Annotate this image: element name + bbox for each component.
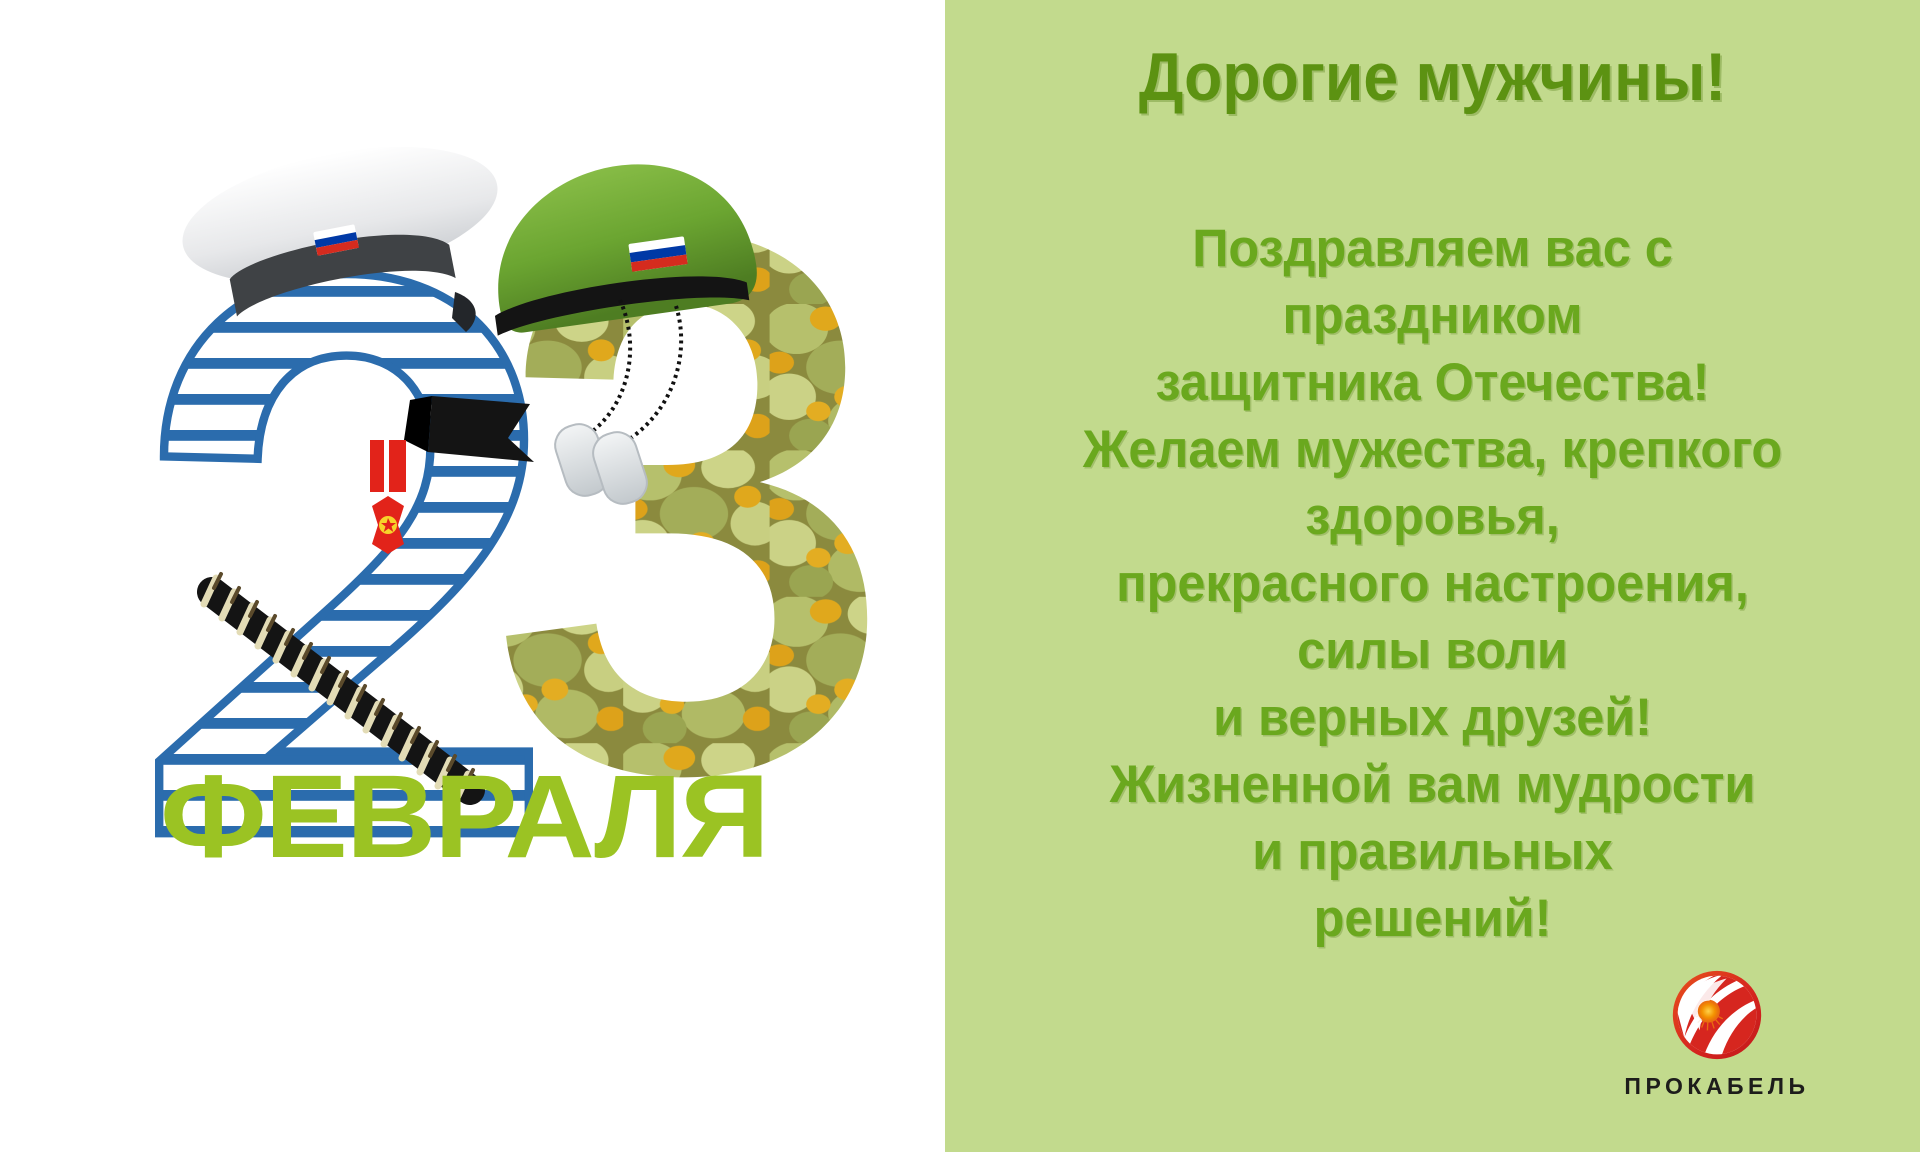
greeting-line: решений! xyxy=(969,885,1895,952)
greeting-card: ФЕВРАЛЯ Дорогие мужчины! Поздравляем вас… xyxy=(0,0,1920,1152)
greeting-line: силы воли xyxy=(969,617,1895,684)
february-word: ФЕВРАЛЯ xyxy=(160,758,817,876)
greeting-line: и правильных xyxy=(969,818,1895,885)
greeting-line: Поздравляем вас с xyxy=(969,215,1895,282)
greeting-line: Жизненной вам мудрости xyxy=(969,751,1895,818)
medal-icon xyxy=(370,440,406,554)
greeting-line: и верных друзей! xyxy=(969,684,1895,751)
greeting-line: Желаем мужества, крепкого xyxy=(969,416,1895,483)
greeting-line: защитника Отечества! xyxy=(969,349,1895,416)
greeting-line: праздником xyxy=(969,282,1895,349)
illustration-panel: ФЕВРАЛЯ xyxy=(0,0,945,1152)
23-february-illustration xyxy=(0,0,945,1152)
greeting-heading: Дорогие мужчины! xyxy=(984,42,1881,113)
prokabel-logo-text: ПРОКАБЕЛЬ xyxy=(1622,1073,1812,1100)
greeting-body: Поздравляем вас с праздником защитника О… xyxy=(969,215,1895,952)
greeting-line: здоровья, xyxy=(969,483,1895,550)
greeting-line: прекрасного настроения, xyxy=(969,550,1895,617)
prokabel-logo-icon xyxy=(1669,967,1765,1063)
numeral-two xyxy=(159,274,529,833)
greeting-panel: Дорогие мужчины! Поздравляем вас с празд… xyxy=(945,0,1920,1152)
company-logo: ПРОКАБЕЛЬ xyxy=(1622,967,1812,1100)
